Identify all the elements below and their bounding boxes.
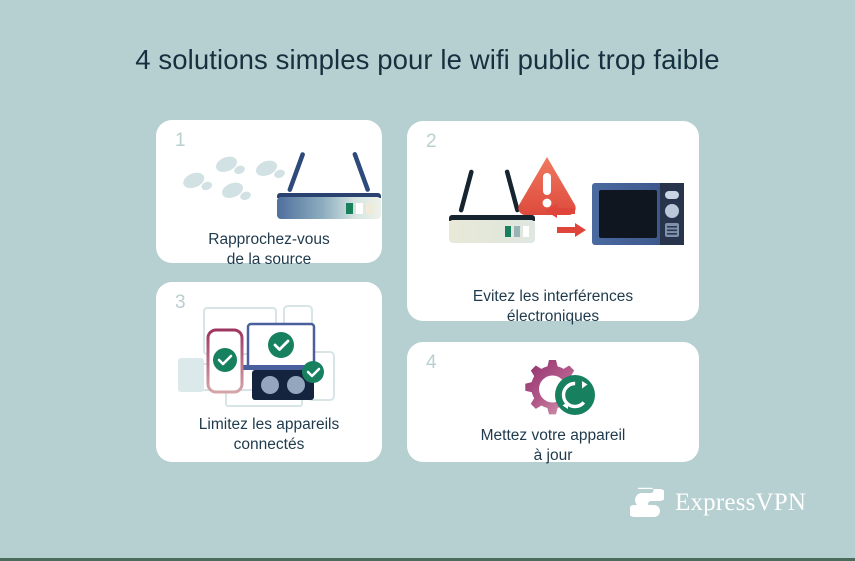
page-title: 4 solutions simples pour le wifi public …	[0, 44, 855, 76]
router-icon	[277, 151, 381, 219]
card-caption-1: Rapprochez-vous de la source	[156, 230, 382, 270]
refresh-icon	[555, 375, 595, 415]
infographic-canvas: 4 solutions simples pour le wifi public …	[0, 0, 855, 561]
interference-arrows-icon	[546, 204, 586, 237]
expressvpn-mark-icon	[630, 487, 664, 519]
card-step-1: 1	[156, 120, 382, 263]
warning-triangle-icon	[518, 157, 575, 215]
card-step-3: 3	[156, 282, 382, 462]
illustration-gear-update	[407, 358, 699, 420]
illustration-router-warning-microwave	[407, 145, 699, 273]
background-device-fills	[178, 358, 204, 392]
illustration-footprints-and-router	[156, 146, 382, 224]
card-caption-4: Mettez votre appareil à jour	[407, 426, 699, 466]
card-caption-2: Evitez les interférences électroniques	[407, 287, 699, 327]
card-step-4: 4	[407, 342, 699, 462]
microwave-icon	[592, 183, 684, 245]
illustration-connected-devices	[156, 302, 382, 412]
expressvpn-logo: ExpressVPN	[630, 487, 806, 519]
card-step-2: 2	[407, 121, 699, 321]
expressvpn-wordmark: ExpressVPN	[675, 489, 806, 517]
card-caption-3: Limitez les appareils connectés	[156, 415, 382, 455]
